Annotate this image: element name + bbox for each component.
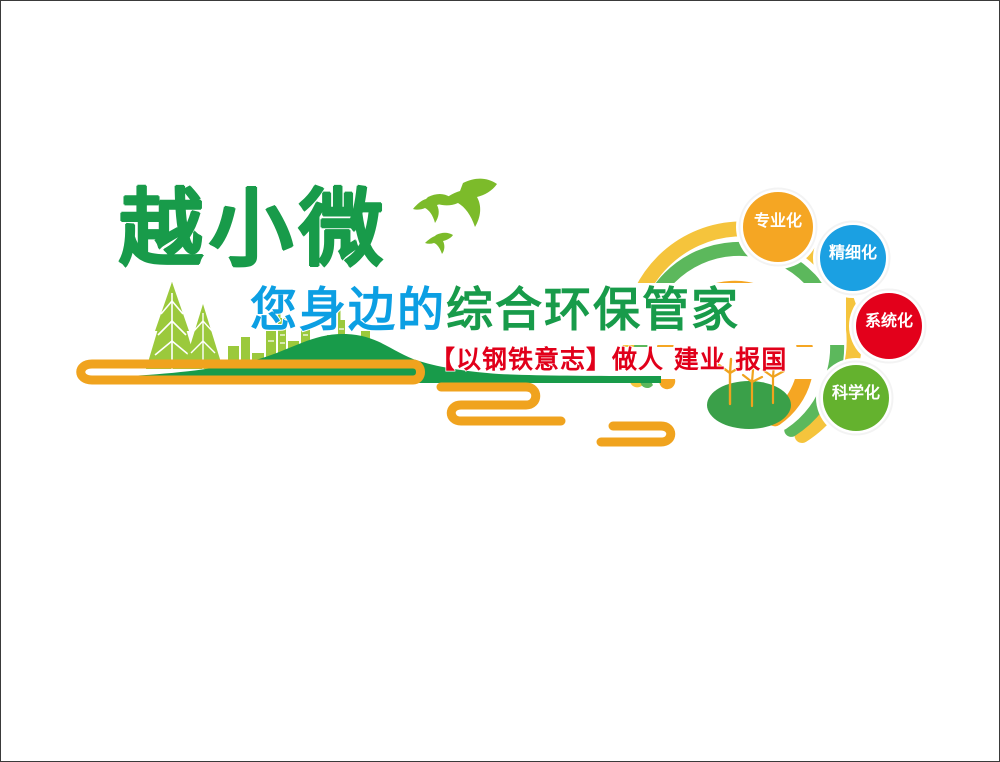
- badge-label-systematization: 系统化: [852, 313, 926, 329]
- ribbon-lower-right: [601, 426, 671, 442]
- poster-canvas: 越小微 您身边的综合环保管家 【以钢铁意志】做人 建业 报国 专业化 精细化 系…: [0, 0, 1000, 762]
- orange-ribbon-group: [81, 364, 671, 442]
- turbine-hill: [707, 381, 791, 429]
- poster-artwork: [1, 1, 1000, 762]
- bird-small: [425, 233, 453, 254]
- subtitle-green-part: 综合环保管家: [446, 283, 740, 338]
- page-title: 越小微: [119, 187, 389, 271]
- slogan-text: 【以钢铁意志】做人 建业 报国: [430, 347, 787, 372]
- ribbon-middle-upper: [441, 387, 561, 421]
- badge-label-scientization: 科学化: [819, 385, 893, 401]
- birds-group: [413, 179, 497, 254]
- subtitle: 您身边的综合环保管家: [250, 287, 740, 334]
- bird-large: [438, 179, 497, 227]
- bird-medium: [413, 194, 450, 223]
- badge-label-refinement: 精细化: [816, 245, 890, 261]
- subtitle-blue-part: 您身边的: [250, 283, 446, 338]
- badge-label-specialization: 专业化: [740, 213, 816, 229]
